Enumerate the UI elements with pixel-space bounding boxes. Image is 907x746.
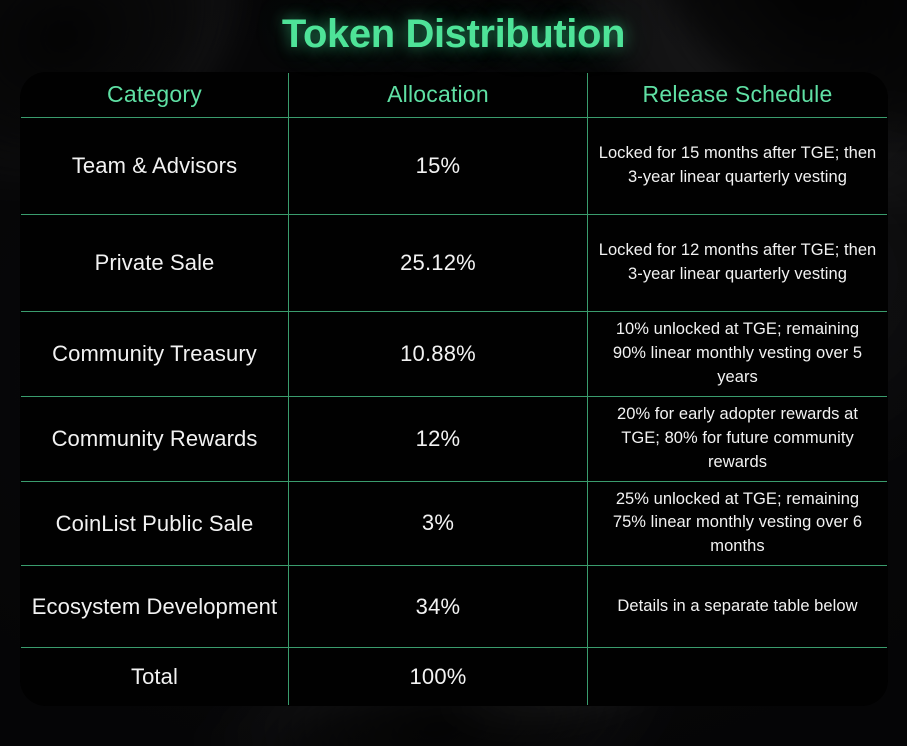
cell-total-allocation: 100% [289,648,588,706]
page-title: Token Distribution [20,0,887,72]
cell-category: Team & Advisors [21,118,289,215]
column-header-allocation: Allocation [289,73,588,118]
cell-release-schedule: 25% unlocked at TGE; remaining 75% linea… [588,481,888,566]
table-header: Category Allocation Release Schedule [21,73,888,118]
cell-category: Community Treasury [21,312,289,397]
cell-release-schedule: Locked for 12 months after TGE; then 3-y… [588,215,888,312]
cell-allocation: 12% [289,396,588,481]
cell-allocation: 10.88% [289,312,588,397]
table-row: Community Treasury 10.88% 10% unlocked a… [21,312,888,397]
table-row: Team & Advisors 15% Locked for 15 months… [21,118,888,215]
table-body: Team & Advisors 15% Locked for 15 months… [21,118,888,706]
cell-release-schedule: Locked for 15 months after TGE; then 3-y… [588,118,888,215]
cell-allocation: 15% [289,118,588,215]
table-row: CoinList Public Sale 3% 25% unlocked at … [21,481,888,566]
column-header-category: Category [21,73,289,118]
cell-total-label: Total [21,648,289,706]
cell-category: Community Rewards [21,396,289,481]
cell-total-release-schedule [588,648,888,706]
table-header-row: Category Allocation Release Schedule [21,73,888,118]
cell-allocation: 25.12% [289,215,588,312]
cell-allocation: 3% [289,481,588,566]
cell-release-schedule: Details in a separate table below [588,566,888,648]
cell-category: Private Sale [21,215,289,312]
cell-allocation: 34% [289,566,588,648]
table-row-total: Total 100% [21,648,888,706]
table-row: Community Rewards 12% 20% for early adop… [21,396,888,481]
page-root: Token Distribution Category Allocation R… [0,0,907,746]
cell-category: CoinList Public Sale [21,481,289,566]
cell-release-schedule: 10% unlocked at TGE; remaining 90% linea… [588,312,888,397]
table-row: Private Sale 25.12% Locked for 12 months… [21,215,888,312]
cell-category: Ecosystem Development [21,566,289,648]
column-header-release-schedule: Release Schedule [588,73,888,118]
table-row: Ecosystem Development 34% Details in a s… [21,566,888,648]
cell-release-schedule: 20% for early adopter rewards at TGE; 80… [588,396,888,481]
token-distribution-table: Category Allocation Release Schedule Tea… [20,72,888,706]
